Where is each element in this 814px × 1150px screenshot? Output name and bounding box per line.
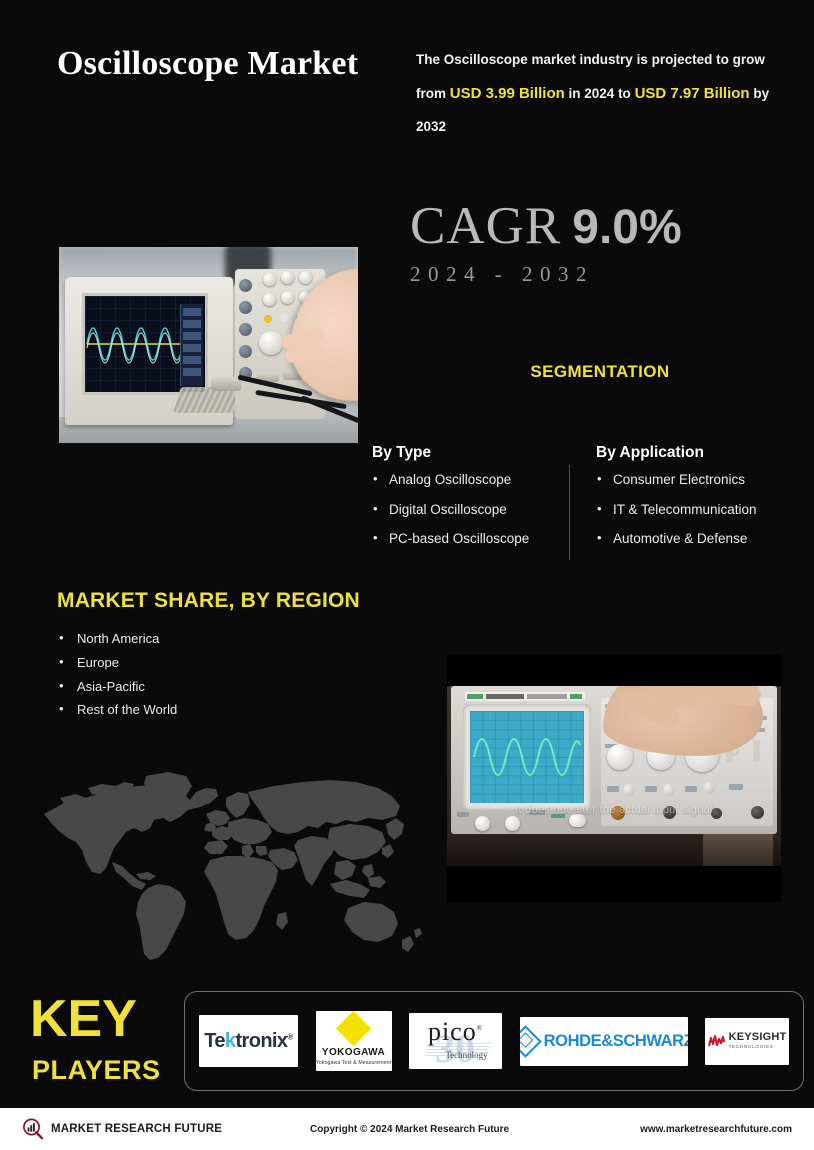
segmentation-by-type: By Type •Analog Oscilloscope •Digital Os… bbox=[372, 444, 590, 562]
pico-wordmark: pico® bbox=[428, 1017, 483, 1046]
analog-oscilloscope-photo: It does not alter the actual input signa… bbox=[447, 654, 781, 902]
world-map bbox=[30, 762, 430, 977]
key-players-title-line1: KEY bbox=[30, 995, 137, 1044]
registered-icon: ® bbox=[477, 1024, 483, 1032]
list-item: •PC-based Oscilloscope bbox=[372, 532, 590, 546]
bullet-icon: • bbox=[59, 631, 64, 645]
footer-brand[interactable]: MARKET RESEARCH FUTURE bbox=[22, 1118, 222, 1140]
oscilloscope-body bbox=[65, 277, 233, 425]
bullet-icon: • bbox=[597, 472, 602, 485]
region-0: North America bbox=[77, 631, 159, 646]
panel-button bbox=[239, 301, 252, 314]
analog-knob-small bbox=[703, 782, 715, 794]
analog-knob-small bbox=[623, 784, 635, 796]
key-players-panel: Tektronix® YOKOGAWA Yokogawa Test & Meas… bbox=[184, 991, 804, 1091]
by-application-item-2: Automotive & Defense bbox=[613, 531, 747, 546]
rohde-lockup: ROHDE&SCHWARZ bbox=[520, 1030, 688, 1053]
logo-keysight[interactable]: KEYSIGHT TECHNOLOGIES bbox=[705, 1018, 789, 1065]
list-item: •North America bbox=[57, 632, 177, 646]
by-type-item-2: PC-based Oscilloscope bbox=[389, 531, 529, 546]
panel-button bbox=[239, 345, 252, 358]
page-title: Oscilloscope Market bbox=[57, 42, 387, 86]
bullet-icon: • bbox=[373, 472, 378, 485]
footer-url[interactable]: www.marketresearchfuture.com bbox=[640, 1124, 792, 1135]
by-application-item-1: IT & Telecommunication bbox=[613, 502, 757, 517]
keysight-tagline: TECHNOLOGIES bbox=[729, 1045, 787, 1050]
probe-connector bbox=[211, 377, 241, 391]
by-application-item-0: Consumer Electronics bbox=[613, 472, 745, 487]
panel-marking bbox=[685, 786, 697, 792]
panel-button bbox=[239, 279, 252, 292]
region-3: Rest of the World bbox=[77, 702, 177, 717]
logo-rohde-schwarz[interactable]: ROHDE&SCHWARZ bbox=[520, 1017, 688, 1066]
infographic-page: Oscilloscope Market The Oscilloscope mar… bbox=[0, 0, 814, 1150]
bullet-icon: • bbox=[597, 531, 602, 544]
indicator-dot bbox=[280, 314, 288, 322]
bullet-icon: • bbox=[59, 702, 64, 716]
crt-screen bbox=[470, 711, 584, 803]
logo-yokogawa[interactable]: YOKOGAWA Yokogawa Test & Measurement bbox=[316, 1011, 392, 1071]
crt-bezel bbox=[463, 704, 591, 810]
market-share-region-list: •North America •Europe •Asia-Pacific •Re… bbox=[57, 632, 177, 727]
panel-knob bbox=[263, 273, 276, 286]
list-item: •Europe bbox=[57, 656, 177, 670]
logo-tektronix[interactable]: Tektronix® bbox=[199, 1015, 298, 1067]
market-share-heading: MARKET SHARE, BY REGION bbox=[57, 589, 360, 613]
region-2: Asia-Pacific bbox=[77, 679, 145, 694]
scene-highlight bbox=[703, 834, 773, 866]
intro-value-2024: USD 3.99 Billion bbox=[450, 85, 565, 102]
video-caption: It does not alter the actual input signa… bbox=[447, 804, 781, 816]
front-knob bbox=[505, 816, 520, 831]
label-mark bbox=[570, 694, 582, 699]
panel-knob bbox=[263, 293, 276, 306]
brand-label-strip bbox=[465, 692, 585, 701]
large-knob bbox=[259, 331, 283, 355]
analog-knob-small bbox=[663, 784, 675, 796]
list-item: •Analog Oscilloscope bbox=[372, 473, 590, 487]
digital-oscilloscope-photo bbox=[59, 247, 358, 443]
pico-text-group: pico® Technology bbox=[409, 1019, 502, 1063]
key-players-title-line2: PLAYERS bbox=[32, 1057, 161, 1084]
pico-tagline: Technology bbox=[445, 1050, 487, 1060]
list-item: •Automotive & Defense bbox=[596, 532, 796, 546]
segmentation-by-application: By Application •Consumer Electronics •IT… bbox=[590, 444, 796, 562]
intro-part-2: in 2024 to bbox=[565, 86, 635, 101]
video-lower-scene bbox=[447, 834, 781, 866]
label-mark bbox=[527, 694, 567, 699]
cagr-headline: CAGR9.0% bbox=[410, 196, 790, 256]
market-intro-text: The Oscilloscope market industry is proj… bbox=[416, 44, 788, 143]
by-application-title: By Application bbox=[596, 444, 796, 462]
intro-value-2032: USD 7.97 Billion bbox=[635, 85, 750, 102]
analog-knob bbox=[607, 744, 633, 770]
footer-brand-text: MARKET RESEARCH FUTURE bbox=[51, 1123, 222, 1135]
bullet-icon: • bbox=[373, 502, 378, 515]
list-item: •IT & Telecommunication bbox=[596, 503, 796, 517]
panel-button bbox=[239, 323, 252, 336]
keysight-wave-icon bbox=[708, 1034, 725, 1048]
list-item: •Digital Oscilloscope bbox=[372, 503, 590, 517]
by-application-list: •Consumer Electronics •IT & Telecommunic… bbox=[596, 473, 796, 546]
yokogawa-tagline: Yokogawa Test & Measurement bbox=[316, 1060, 391, 1066]
by-type-title: By Type bbox=[372, 444, 590, 462]
yokogawa-lockup: YOKOGAWA Yokogawa Test & Measurement bbox=[316, 1016, 391, 1066]
cagr-period: 2024 - 2032 bbox=[410, 262, 790, 287]
pico-word: pico bbox=[428, 1017, 477, 1046]
oscilloscope-screen bbox=[82, 293, 208, 395]
list-item: •Consumer Electronics bbox=[596, 473, 796, 487]
region-1: Europe bbox=[77, 655, 119, 670]
bullet-icon: • bbox=[59, 679, 64, 693]
indicator-dot bbox=[264, 315, 272, 323]
bullet-icon: • bbox=[59, 655, 64, 669]
magnifier-chart-icon bbox=[22, 1118, 44, 1140]
list-item: •Asia-Pacific bbox=[57, 680, 177, 694]
panel-knob bbox=[299, 271, 312, 284]
by-type-item-1: Digital Oscilloscope bbox=[389, 502, 507, 517]
panel-marking bbox=[607, 786, 619, 792]
logo-pico-technology[interactable]: 30 pico® Technology bbox=[409, 1013, 502, 1069]
list-item: •Rest of the World bbox=[57, 703, 177, 717]
segmentation-heading: SEGMENTATION bbox=[410, 362, 790, 382]
bullet-icon: • bbox=[373, 531, 378, 544]
diamond-icon bbox=[336, 1011, 371, 1046]
keysight-text-group: KEYSIGHT TECHNOLOGIES bbox=[729, 1032, 787, 1050]
tektronix-wordmark: Tektronix® bbox=[204, 1030, 292, 1053]
panel-knob bbox=[281, 271, 294, 284]
panel-knob bbox=[281, 291, 294, 304]
yokogawa-wordmark: YOKOGAWA bbox=[322, 1047, 385, 1058]
diamond-icon bbox=[520, 1025, 542, 1058]
sine-wave-icon bbox=[470, 711, 584, 803]
panel-marking bbox=[645, 786, 657, 792]
panel-marking bbox=[729, 784, 743, 790]
video-frame: It does not alter the actual input signa… bbox=[447, 686, 781, 866]
label-mark bbox=[467, 694, 483, 699]
screen-side-menu bbox=[180, 304, 203, 386]
front-knob bbox=[475, 816, 490, 831]
footer-copyright: Copyright © 2024 Market Research Future bbox=[310, 1124, 509, 1135]
slide-switch bbox=[753, 740, 760, 762]
rohde-wordmark: ROHDE&SCHWARZ bbox=[544, 1032, 688, 1051]
keysight-wordmark: KEYSIGHT bbox=[729, 1032, 787, 1043]
segmentation-columns: By Type •Analog Oscilloscope •Digital Os… bbox=[372, 444, 792, 562]
cagr-value: 9.0% bbox=[572, 201, 681, 254]
footer-bar: MARKET RESEARCH FUTURE Copyright © 2024 … bbox=[0, 1108, 814, 1150]
cagr-block: CAGR9.0% 2024 - 2032 bbox=[410, 196, 790, 287]
by-type-list: •Analog Oscilloscope •Digital Oscillosco… bbox=[372, 473, 590, 546]
by-type-item-0: Analog Oscilloscope bbox=[389, 472, 511, 487]
cagr-label: CAGR bbox=[410, 197, 561, 255]
bullet-icon: • bbox=[597, 502, 602, 515]
keysight-lockup: KEYSIGHT TECHNOLOGIES bbox=[708, 1032, 787, 1050]
label-mark bbox=[486, 694, 524, 699]
world-map-icon bbox=[30, 762, 430, 977]
pico-lockup: 30 pico® Technology bbox=[409, 1013, 502, 1069]
